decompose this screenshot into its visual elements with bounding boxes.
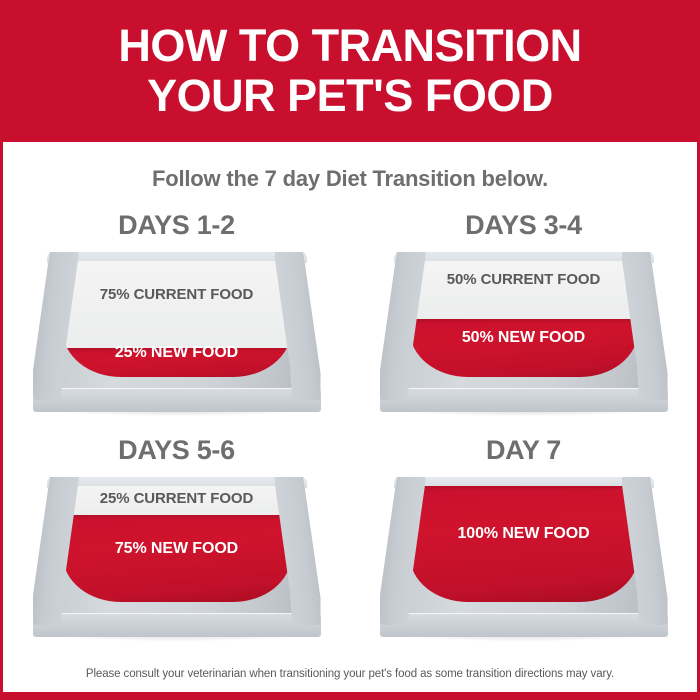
step-day-label: DAYS 1-2: [3, 210, 350, 241]
current-food-layer: [410, 261, 638, 319]
bowl-base: [380, 613, 668, 637]
header-banner: HOW TO TRANSITION YOUR PET'S FOOD: [0, 0, 700, 142]
current-food-layer: [63, 261, 291, 348]
step-card-days-5-6: DAYS 5-6 25% CURRENT FOOD 75% NEW FOOD: [3, 435, 350, 655]
bowl-inner-cavity: 25% CURRENT FOOD 75% NEW FOOD: [63, 486, 291, 602]
bowl-inner-cavity: 50% CURRENT FOOD 50% NEW FOOD: [410, 261, 638, 377]
current-food-label: 75% CURRENT FOOD: [63, 286, 291, 304]
new-food-layer: [410, 486, 638, 602]
food-bowl: 75% CURRENT FOOD 25% NEW FOOD: [33, 252, 321, 412]
bowl-base: [33, 388, 321, 412]
step-day-label: DAY 7: [350, 435, 697, 466]
step-card-day-7: DAY 7 100% NEW FOOD: [350, 435, 697, 655]
step-day-label: DAYS 5-6: [3, 435, 350, 466]
bowl-inner-cavity: 100% NEW FOOD: [410, 486, 638, 602]
subtitle-text: Follow the 7 day Diet Transition below.: [3, 166, 697, 192]
bowl-base: [380, 388, 668, 412]
current-food-label: 50% CURRENT FOOD: [410, 271, 638, 289]
new-food-label: 100% NEW FOOD: [410, 524, 638, 543]
new-food-label: 75% NEW FOOD: [63, 539, 291, 558]
infographic-root: HOW TO TRANSITION YOUR PET'S FOOD Follow…: [0, 0, 700, 700]
bowl-inner-cavity: 75% CURRENT FOOD 25% NEW FOOD: [63, 261, 291, 377]
page-title-line-1: HOW TO TRANSITION: [118, 21, 581, 71]
footer-accent-bar: [0, 692, 700, 700]
current-food-label: 25% CURRENT FOOD: [63, 490, 291, 508]
bowl-base: [33, 613, 321, 637]
step-day-label: DAYS 3-4: [350, 210, 697, 241]
new-food-layer: [63, 515, 291, 602]
step-card-days-3-4: DAYS 3-4 50% CURRENT FOOD 50% NEW FOOD: [350, 210, 697, 430]
page-title-line-2: YOUR PET'S FOOD: [147, 71, 553, 121]
food-bowl: 100% NEW FOOD: [380, 477, 668, 637]
transition-steps-grid: DAYS 1-2 75% CURRENT FOOD 25% NEW FOOD D…: [3, 210, 697, 650]
food-bowl: 25% CURRENT FOOD 75% NEW FOOD: [33, 477, 321, 637]
footer-disclaimer: Please consult your veterinarian when tr…: [3, 668, 697, 680]
food-bowl: 50% CURRENT FOOD 50% NEW FOOD: [380, 252, 668, 412]
new-food-label: 50% NEW FOOD: [410, 328, 638, 347]
new-food-label: 25% NEW FOOD: [63, 343, 291, 362]
step-card-days-1-2: DAYS 1-2 75% CURRENT FOOD 25% NEW FOOD: [3, 210, 350, 430]
